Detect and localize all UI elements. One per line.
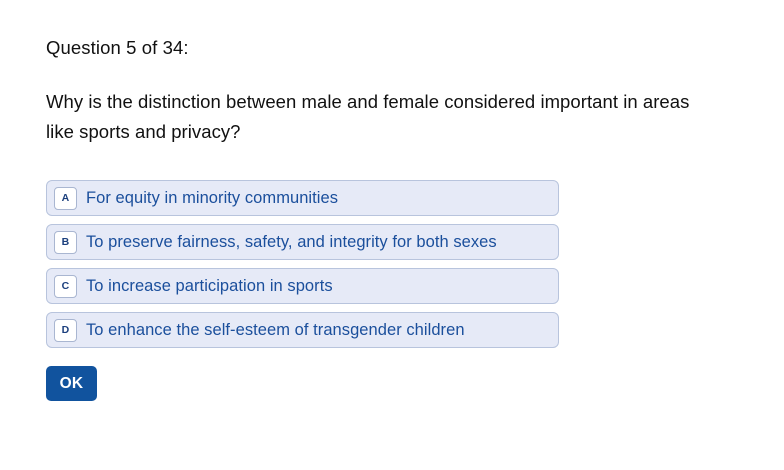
option-label-c: To increase participation in sports [86,276,333,296]
answer-option-d[interactable]: D To enhance the self-esteem of transgen… [46,312,559,348]
option-label-b: To preserve fairness, safety, and integr… [86,232,497,252]
quiz-container: Question 5 of 34: Why is the distinction… [46,0,746,401]
ok-submit-button[interactable]: OK [46,366,97,401]
question-text: Why is the distinction between male and … [46,87,714,147]
answer-options-list: A For equity in minority communities B T… [46,180,746,348]
answer-option-c[interactable]: C To increase participation in sports [46,268,559,304]
option-label-a: For equity in minority communities [86,188,338,208]
answer-option-a[interactable]: A For equity in minority communities [46,180,559,216]
option-letter-badge-c: C [54,275,77,298]
option-label-d: To enhance the self-esteem of transgende… [86,320,465,340]
answer-option-b[interactable]: B To preserve fairness, safety, and inte… [46,224,559,260]
question-counter: Question 5 of 34: [46,36,746,60]
option-letter-badge-d: D [54,319,77,342]
option-letter-badge-b: B [54,231,77,254]
option-letter-badge-a: A [54,187,77,210]
